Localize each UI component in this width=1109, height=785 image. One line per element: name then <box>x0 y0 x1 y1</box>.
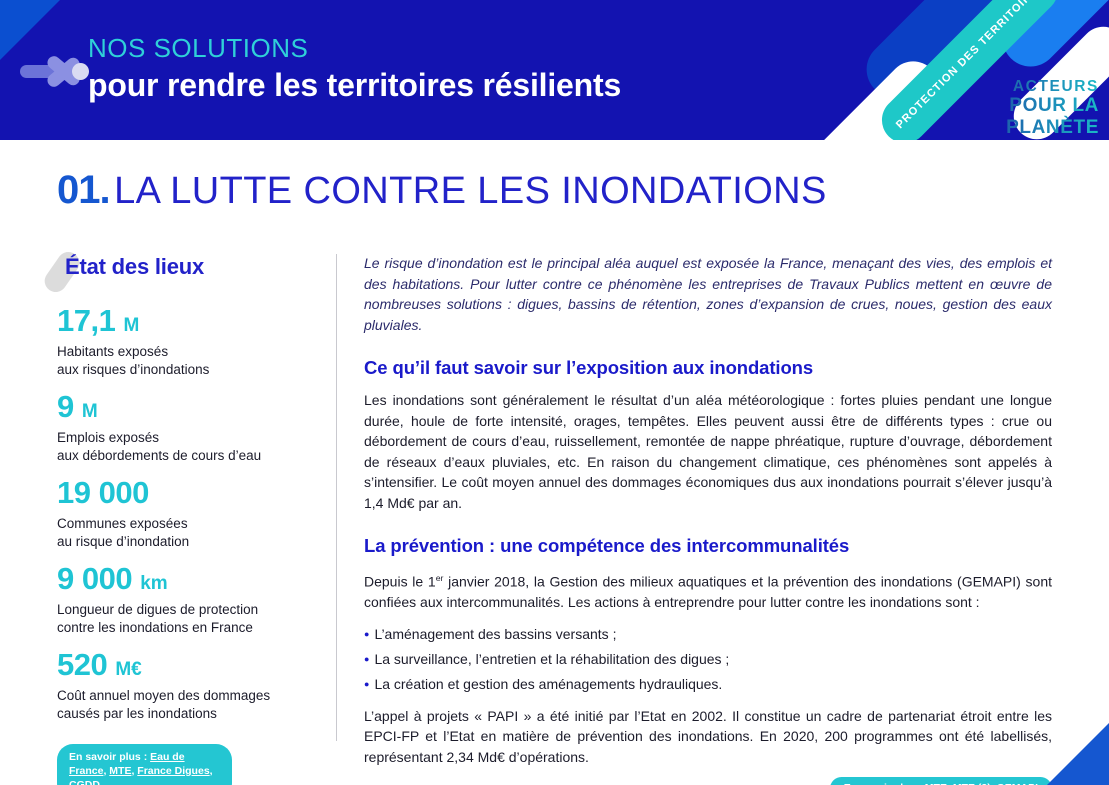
sidebar-badge-link-2[interactable]: MTE <box>109 765 131 777</box>
list-item: L’aménagement des bassins versants ; <box>364 622 1052 647</box>
stat-label-line1: Communes exposées <box>57 515 327 533</box>
section-name: LA LUTTE CONTRE LES INONDATIONS <box>114 170 827 212</box>
stat-label-line2: aux risques d’inondations <box>57 361 327 379</box>
stat-value: 19 000 <box>57 476 327 514</box>
stat-label-line2: contre les inondations en France <box>57 619 327 637</box>
section-number: 01. <box>57 168 110 212</box>
sidebar-stats: État des lieux 17,1 M Habitants exposés … <box>57 252 327 785</box>
brand-logo-line2: POUR LA PLANÈTE <box>951 95 1099 139</box>
stat-label-line2: causés par les inondations <box>57 705 327 723</box>
stat-value: 9 000 km <box>57 562 327 600</box>
sidebar-learn-more-badge[interactable]: En savoir plus : Eau de France, MTE, Fra… <box>57 744 232 785</box>
stat-label-line1: Emplois exposés <box>57 429 327 447</box>
sidebar-badge-link-3[interactable]: France Digues <box>137 765 209 777</box>
stat-number: 9 <box>57 389 74 424</box>
list-item: La surveillance, l’entretien et la réhab… <box>364 647 1052 672</box>
stat-label-line2: aux débordements de cours d’eau <box>57 447 327 465</box>
arrow-right-icon <box>20 48 90 94</box>
list-item: La création et gestion des aménagements … <box>364 672 1052 697</box>
stat-number: 17,1 <box>57 303 115 338</box>
stat-unit: M€ <box>115 659 141 680</box>
stat-label: Communes exposées au risque d’inondation <box>57 515 327 550</box>
bullet-list: L’aménagement des bassins versants ; La … <box>364 622 1052 697</box>
closing-paragraph: L’appel à projets « PAPI » a été initié … <box>364 706 1052 768</box>
page-header: PROTECTION DES TERRITOIRES NOS SOLUTIONS… <box>0 0 1109 140</box>
main-badge-wrap: En savoir plus : MTE, MTE (2), GEMAPI <box>364 777 1052 785</box>
brand-logo-line1: ACTEURS <box>951 78 1099 95</box>
stat-number: 520 <box>57 647 107 682</box>
stat-label: Emplois exposés aux débordements de cour… <box>57 429 327 464</box>
paragraph-post: janvier 2018, la Gestion des milieux aqu… <box>364 574 1052 611</box>
column-divider <box>336 254 337 741</box>
stat-item: 9 000 km Longueur de digues de protectio… <box>57 562 327 636</box>
sidebar-heading: État des lieux <box>65 254 204 280</box>
section-paragraph-1: Les inondations sont généralement le rés… <box>364 390 1052 513</box>
stat-value: 520 M€ <box>57 648 327 686</box>
stat-label-line1: Longueur de digues de protection <box>57 601 327 619</box>
stat-value: 17,1 M <box>57 304 327 342</box>
main-content: Le risque d’inondation est le principal … <box>364 253 1052 785</box>
stat-number: 19 000 <box>57 475 149 510</box>
section-heading-1: Ce qu’il faut savoir sur l’exposition au… <box>364 357 1052 379</box>
section-paragraph-2: Depuis le 1er janvier 2018, la Gestion d… <box>364 568 1052 613</box>
page-root: PROTECTION DES TERRITOIRES NOS SOLUTIONS… <box>0 0 1109 785</box>
stat-unit: M <box>123 315 139 336</box>
stat-label: Habitants exposés aux risques d’inondati… <box>57 343 327 378</box>
stat-item: 17,1 M Habitants exposés aux risques d’i… <box>57 304 327 378</box>
stat-item: 520 M€ Coût annuel moyen des dommages ca… <box>57 648 327 722</box>
sidebar-badge-prefix: En savoir plus : <box>69 751 147 763</box>
stat-number: 9 000 <box>57 561 132 596</box>
intro-paragraph: Le risque d’inondation est le principal … <box>364 253 1052 335</box>
stat-item: 9 M Emplois exposés aux débordements de … <box>57 390 327 464</box>
header-kicker: NOS SOLUTIONS <box>88 34 621 62</box>
stat-unit: km <box>140 573 167 594</box>
stat-label-line2: au risque d’inondation <box>57 533 327 551</box>
header-text-block: NOS SOLUTIONS pour rendre les territoire… <box>88 34 621 106</box>
stat-label: Longueur de digues de protection contre … <box>57 601 327 636</box>
page-title: 01. LA LUTTE CONTRE LES INONDATIONS <box>57 168 827 213</box>
stat-label-line1: Habitants exposés <box>57 343 327 361</box>
main-learn-more-badge[interactable]: En savoir plus : MTE, MTE (2), GEMAPI <box>830 777 1052 785</box>
stat-label: Coût annuel moyen des dommages causés pa… <box>57 687 327 722</box>
section-heading-2: La prévention : une compétence des inter… <box>364 535 1052 557</box>
bottom-right-corner-decoration <box>1047 723 1109 785</box>
arrow-dot <box>72 63 89 80</box>
stat-unit: M <box>82 401 98 422</box>
stat-item: 19 000 Communes exposées au risque d’ino… <box>57 476 327 550</box>
header-title: pour rendre les territoires résilients <box>88 64 621 106</box>
brand-logo: ACTEURS POUR LA PLANÈTE LES TRAVAUX PUBL… <box>951 78 1099 140</box>
sidebar-heading-wrap: État des lieux <box>57 252 327 292</box>
stat-value: 9 M <box>57 390 327 428</box>
sidebar-badge-link-4[interactable]: CGDD <box>69 779 100 785</box>
paragraph-pre: Depuis le 1 <box>364 574 436 590</box>
stat-label-line1: Coût annuel moyen des dommages <box>57 687 327 705</box>
